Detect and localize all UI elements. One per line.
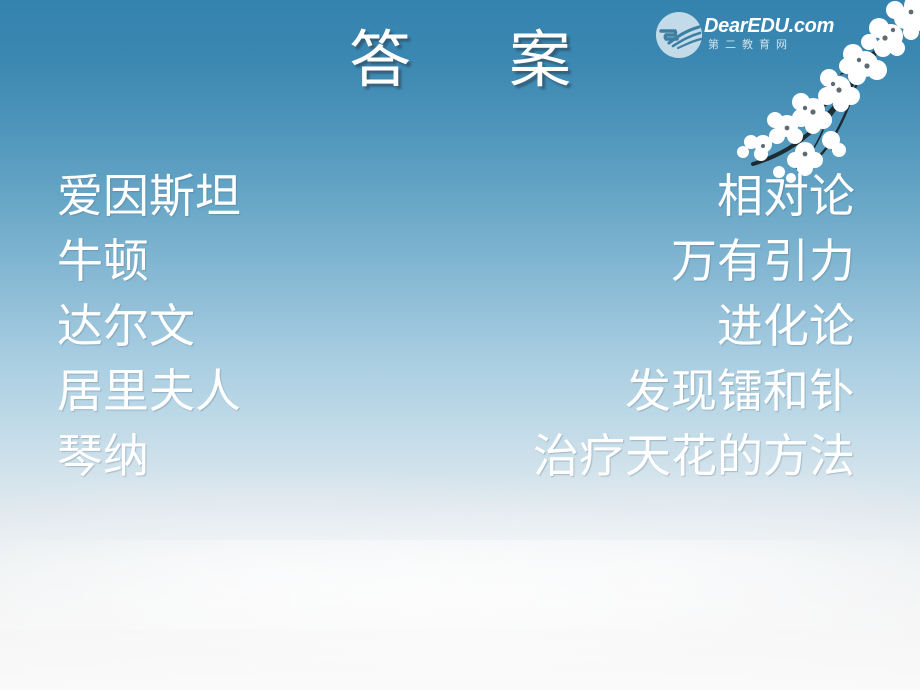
answer-person: 爱因斯坦: [57, 168, 241, 226]
answer-achievement: 治疗天花的方法: [533, 428, 855, 486]
background-haze-middle: [0, 540, 920, 690]
background-haze-lower: [0, 600, 920, 690]
answer-row: 居里夫人 发现镭和钋: [0, 363, 920, 428]
answer-person: 牛顿: [57, 233, 149, 291]
answer-achievement: 进化论: [717, 298, 855, 356]
answer-person: 居里夫人: [57, 363, 241, 421]
answer-achievement: 万有引力: [671, 233, 855, 291]
background-haze-upper: [0, 470, 920, 630]
answer-row: 达尔文 进化论: [0, 298, 920, 363]
answer-row: 琴纳 治疗天花的方法: [0, 428, 920, 493]
presentation-slide: DearEDU.com 第二教育网 答 案 爱因斯坦 相对论 牛顿 万有引力 达…: [0, 0, 920, 690]
answer-achievement: 相对论: [717, 168, 855, 226]
answer-person: 达尔文: [57, 298, 195, 356]
slide-title: 答 案: [0, 22, 920, 100]
answer-person: 琴纳: [57, 428, 149, 486]
answer-list: 爱因斯坦 相对论 牛顿 万有引力 达尔文 进化论 居里夫人 发现镭和钋 琴纳 治…: [0, 168, 920, 493]
answer-row: 牛顿 万有引力: [0, 233, 920, 298]
answer-row: 爱因斯坦 相对论: [0, 168, 920, 233]
answer-achievement: 发现镭和钋: [625, 363, 855, 421]
